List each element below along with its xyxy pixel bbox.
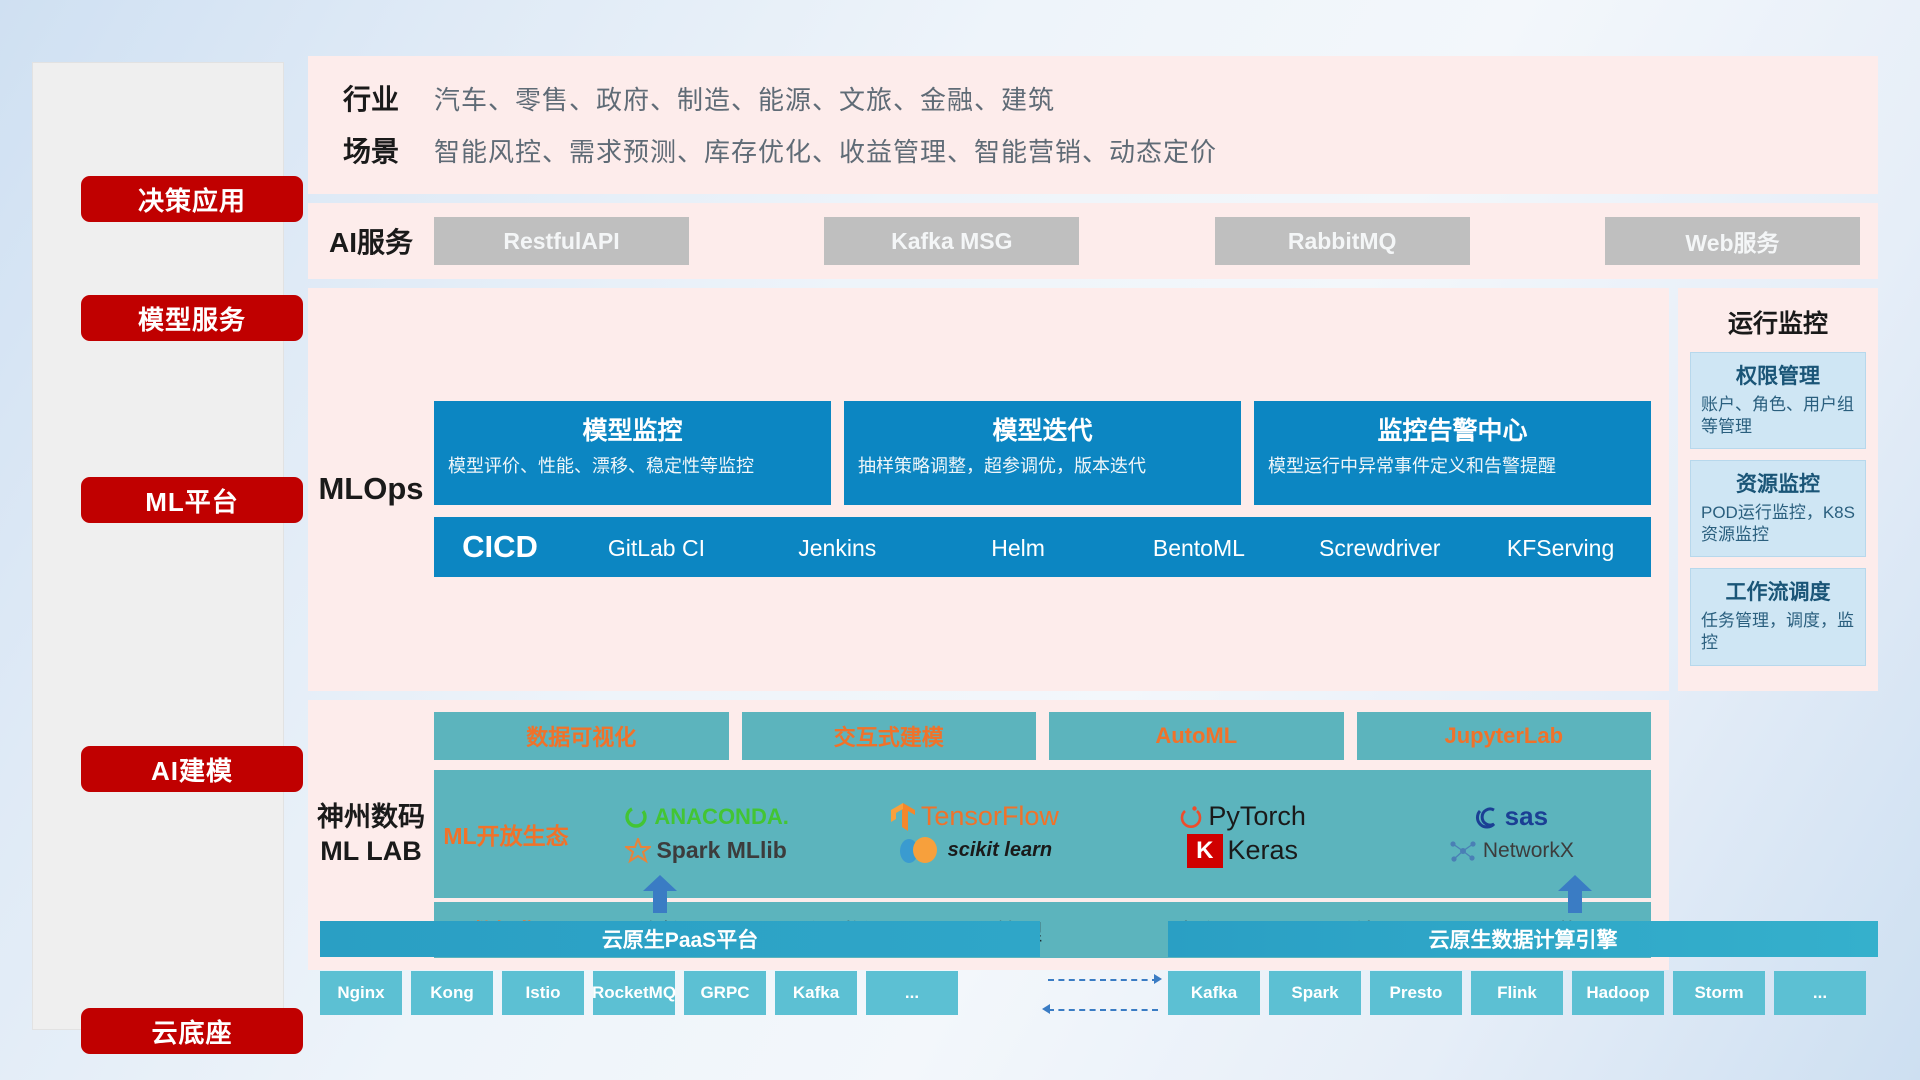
paas-chip-rocketmq[interactable]: RocketMQ [593,971,675,1015]
scikit-learn-logo: scikit learn [897,836,1053,866]
cicd-items: GitLab CI Jenkins Helm BentoML Screwdriv… [566,531,1651,564]
mlops-card-alert-center[interactable]: 监控告警中心 模型运行中异常事件定义和告警提醒 [1254,401,1651,505]
cloud-base-section: 云原生PaaS平台 云原生数据计算引擎 Nginx Kong Istio Roc… [308,875,1878,1035]
paas-chip-more[interactable]: ... [866,971,958,1015]
monitor-card-workflow[interactable]: 工作流调度 任务管理，调度，监控 [1690,568,1866,665]
tab-interactive-modeling[interactable]: 交互式建模 [742,712,1037,760]
monitor-column: 运行监控 权限管理 账户、角色、用户组等管理 资源监控 POD运行监控，K8S资… [1678,288,1878,691]
ml-ecosystem-logos: ANACONDA. TensorFlow [572,800,1645,868]
spark-mllib-logo-text: Spark MLlib [656,837,786,864]
ai-service-band: AI服务 RestfulAPI Kafka MSG RabbitMQ Web服务 [308,203,1878,279]
paas-chip-grpc[interactable]: GRPC [684,971,766,1015]
dashed-connector-right [1048,979,1158,981]
mlops-cards: 模型监控 模型评价、性能、漂移、稳定性等监控 模型迭代 抽样策略调整，超参调优，… [434,401,1651,505]
arrow-up-paas-icon [643,875,677,913]
paas-chip-nginx[interactable]: Nginx [320,971,402,1015]
engine-chip-spark[interactable]: Spark [1269,971,1361,1015]
monitor-column-title: 运行监控 [1690,304,1866,340]
mlops-card-title: 监控告警中心 [1268,411,1637,447]
engine-chip-presto[interactable]: Presto [1370,971,1462,1015]
cicd-title: CICD [434,529,566,565]
ml-lab-key: 神州数码 ML LAB [308,801,434,869]
scikit-learn-logo-text: scikit learn [948,839,1053,862]
pytorch-logo: PyTorch [1179,801,1306,832]
cicd-item-kfserving[interactable]: KFServing [1470,531,1651,564]
keras-logo-text: Keras [1228,835,1299,866]
ml-lab-tabs: 数据可视化 交互式建模 AutoML JupyterLab [434,712,1651,760]
tensorflow-logo-text: TensorFlow [921,801,1059,832]
ai-service-chip-kafka-msg[interactable]: Kafka MSG [824,217,1079,265]
dashed-arrow-head-right-icon [1154,974,1162,984]
engine-bar[interactable]: 云原生数据计算引擎 [1168,921,1878,957]
anaconda-logo: ANACONDA. [623,804,788,830]
cicd-item-helm[interactable]: Helm [928,531,1109,564]
mlops-card-title: 模型监控 [448,411,817,447]
engine-chips: Kafka Spark Presto Flink Hadoop Storm ..… [1168,971,1866,1015]
anaconda-logo-text: ANACONDA. [654,804,788,830]
scenario-value: 智能风控、需求预测、库存优化、收益管理、智能营销、动态定价 [434,132,1217,169]
ai-service-chip-restfulapi[interactable]: RestfulAPI [434,217,689,265]
monitor-card-title: 权限管理 [1701,360,1855,390]
networkx-logo-text: NetworkX [1483,839,1574,863]
monitor-card-resource[interactable]: 资源监控 POD运行监控，K8S资源监控 [1690,460,1866,557]
industry-line: 行业 汽车、零售、政府、制造、能源、文旅、金融、建筑 [308,72,1878,124]
keras-mark-icon: K [1187,834,1222,868]
arrow-up-engine-icon [1558,875,1592,913]
left-rail: 决策应用 模型服务 ML平台 AI建模 云底座 [32,62,284,1030]
dashed-arrow-head-left-icon [1042,1004,1050,1014]
paas-chips: Nginx Kong Istio RocketMQ GRPC Kafka ... [320,971,958,1015]
rail-badge-ai-modeling[interactable]: AI建模 [81,746,303,792]
mlops-card-model-iteration[interactable]: 模型迭代 抽样策略调整，超参调优，版本迭代 [844,401,1241,505]
monitor-card-permission[interactable]: 权限管理 账户、角色、用户组等管理 [1690,352,1866,449]
tab-data-visualization[interactable]: 数据可视化 [434,712,729,760]
ai-service-key: AI服务 [308,221,434,261]
sas-mark-icon [1474,804,1500,830]
tab-jupyterlab[interactable]: JupyterLab [1357,712,1652,760]
rail-badge-model-service[interactable]: 模型服务 [81,295,303,341]
sas-logo: sas [1474,801,1548,832]
paas-chip-kong[interactable]: Kong [411,971,493,1015]
mlops-row: MLOps 模型监控 模型评价、性能、漂移、稳定性等监控 模型迭代 抽样策略调整… [308,288,1878,691]
pytorch-mark-icon [1179,803,1203,831]
ai-service-items: RestfulAPI Kafka MSG RabbitMQ Web服务 [434,217,1878,265]
tensorflow-logo: TensorFlow [890,801,1059,832]
anaconda-mark-icon [623,804,649,830]
main-stack: 行业 汽车、零售、政府、制造、能源、文旅、金融、建筑 场景 智能风控、需求预测、… [308,56,1878,970]
networkx-mark-icon [1448,838,1478,864]
tensorflow-mark-icon [890,802,916,832]
mlops-content: 模型监控 模型评价、性能、漂移、稳定性等监控 模型迭代 抽样策略调整，超参调优，… [434,401,1669,577]
mlops-key: MLOps [308,471,434,507]
tab-automl[interactable]: AutoML [1049,712,1344,760]
networkx-logo: NetworkX [1448,838,1574,864]
paas-bar[interactable]: 云原生PaaS平台 [320,921,1040,957]
diagram-canvas: 决策应用 模型服务 ML平台 AI建模 云底座 行业 汽车、零售、政府、制造、能… [0,0,1920,1080]
scenario-line: 场景 智能风控、需求预测、库存优化、收益管理、智能营销、动态定价 [308,124,1878,176]
scenario-key: 场景 [308,130,434,170]
rail-badge-cloud-base[interactable]: 云底座 [81,1008,303,1054]
monitor-card-desc: POD运行监控，K8S资源监控 [1701,502,1855,546]
industry-scenario-band: 行业 汽车、零售、政府、制造、能源、文旅、金融、建筑 场景 智能风控、需求预测、… [308,56,1878,194]
cicd-item-gitlab-ci[interactable]: GitLab CI [566,531,747,564]
mlops-band: MLOps 模型监控 模型评价、性能、漂移、稳定性等监控 模型迭代 抽样策略调整… [308,288,1669,691]
paas-chip-istio[interactable]: Istio [502,971,584,1015]
mlops-card-title: 模型迭代 [858,411,1227,447]
mlops-card-desc: 抽样策略调整，超参调优，版本迭代 [858,455,1227,479]
spark-mllib-logo: Spark MLlib [625,837,786,864]
monitor-card-title: 工作流调度 [1701,576,1855,606]
dashed-connector-left [1048,1009,1158,1011]
cicd-bar: CICD GitLab CI Jenkins Helm BentoML Scre… [434,517,1651,577]
ai-service-chip-web[interactable]: Web服务 [1605,217,1860,265]
monitor-card-desc: 任务管理，调度，监控 [1701,610,1855,654]
engine-chip-kafka[interactable]: Kafka [1168,971,1260,1015]
scikit-learn-mark-icon [897,836,943,866]
paas-chip-kafka[interactable]: Kafka [775,971,857,1015]
monitor-card-desc: 账户、角色、用户组等管理 [1701,394,1855,438]
engine-chip-hadoop[interactable]: Hadoop [1572,971,1664,1015]
engine-chip-storm[interactable]: Storm [1673,971,1765,1015]
industry-key: 行业 [308,78,434,118]
keras-logo: K Keras [1187,834,1298,868]
engine-chip-flink[interactable]: Flink [1471,971,1563,1015]
pytorch-logo-text: PyTorch [1208,801,1306,832]
mlops-card-model-monitoring[interactable]: 模型监控 模型评价、性能、漂移、稳定性等监控 [434,401,831,505]
sas-logo-text: sas [1505,801,1548,832]
rail-badge-decision-app[interactable]: 决策应用 [81,176,303,222]
mlops-card-desc: 模型评价、性能、漂移、稳定性等监控 [448,455,817,479]
ml-lab-key-line1: 神州数码 [308,801,434,835]
spark-star-icon [625,838,651,864]
cicd-item-screwdriver[interactable]: Screwdriver [1289,531,1470,564]
ml-lab-key-line2: ML LAB [308,835,434,869]
industry-value: 汽车、零售、政府、制造、能源、文旅、金融、建筑 [434,80,1055,117]
engine-chip-more[interactable]: ... [1774,971,1866,1015]
rail-badge-ml-platform[interactable]: ML平台 [81,477,303,523]
monitor-card-title: 资源监控 [1701,468,1855,498]
ai-service-chip-rabbitmq[interactable]: RabbitMQ [1215,217,1470,265]
cicd-item-bentoml[interactable]: BentoML [1108,531,1289,564]
ml-ecosystem-key: ML开放生态 [440,817,572,851]
mlops-card-desc: 模型运行中异常事件定义和告警提醒 [1268,455,1637,479]
cicd-item-jenkins[interactable]: Jenkins [747,531,928,564]
